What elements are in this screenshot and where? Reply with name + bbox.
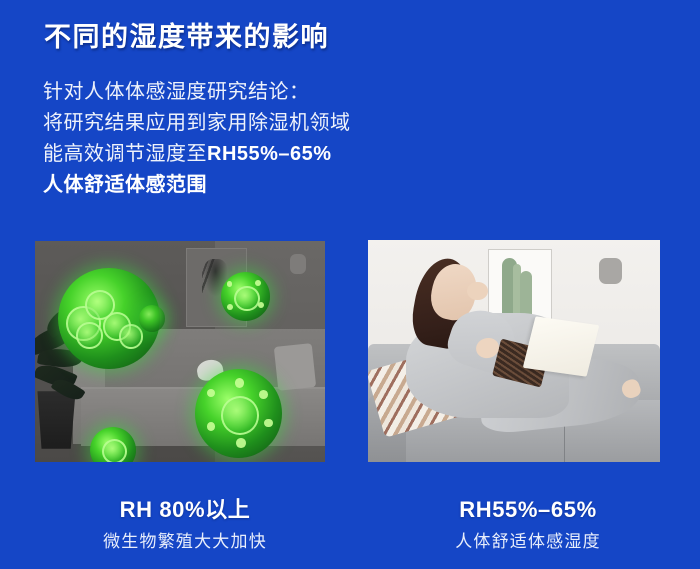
photo-comfort-humidity: [368, 240, 660, 462]
caption-subtitle: 人体舒适体感湿度: [378, 530, 678, 554]
caption-comfort-humidity: RH55%–65% 人体舒适体感湿度: [378, 496, 678, 554]
humidity-range-value: RH55%–65%: [207, 143, 332, 165]
caption-title: RH55%–65%: [378, 496, 678, 524]
germ-icon: [139, 305, 165, 332]
caption-title: RH 80%以上: [35, 496, 335, 524]
description-line-3: 能高效调节湿度至RH55%–65%: [43, 139, 351, 170]
sofa-cushion: [273, 343, 315, 391]
wall-device-icon: [290, 254, 306, 274]
person-hand-upper: [467, 282, 487, 300]
germ-icon: [195, 369, 282, 457]
description-block: 针对人体体感湿度研究结论： 将研究结果应用到家用除湿机领域 能高效调节湿度至RH…: [43, 77, 351, 201]
description-line-1: 针对人体体感湿度研究结论：: [43, 77, 351, 108]
plant-pot: [35, 391, 76, 448]
sofa-seam: [564, 424, 566, 462]
promo-slide: 不同的湿度带来的影响 针对人体体感湿度研究结论： 将研究结果应用到家用除湿机领域…: [0, 0, 700, 569]
description-line-2: 将研究结果应用到家用除湿机领域: [43, 108, 351, 139]
germ-icon: [221, 272, 270, 321]
photo-high-humidity: [35, 241, 325, 462]
book-pages: [522, 316, 599, 377]
page-title: 不同的湿度带来的影响: [44, 19, 329, 55]
wall-device-icon: [599, 258, 622, 285]
description-line-3-prefix: 能高效调节湿度至: [43, 143, 207, 165]
photo-high-humidity-scene: [35, 241, 325, 462]
caption-high-humidity: RH 80%以上 微生物繁殖大大加快: [35, 496, 335, 554]
caption-subtitle: 微生物繁殖大大加快: [35, 530, 335, 554]
description-line-4: 人体舒适体感范围: [43, 170, 351, 201]
photo-comfort-humidity-scene: [368, 240, 660, 462]
